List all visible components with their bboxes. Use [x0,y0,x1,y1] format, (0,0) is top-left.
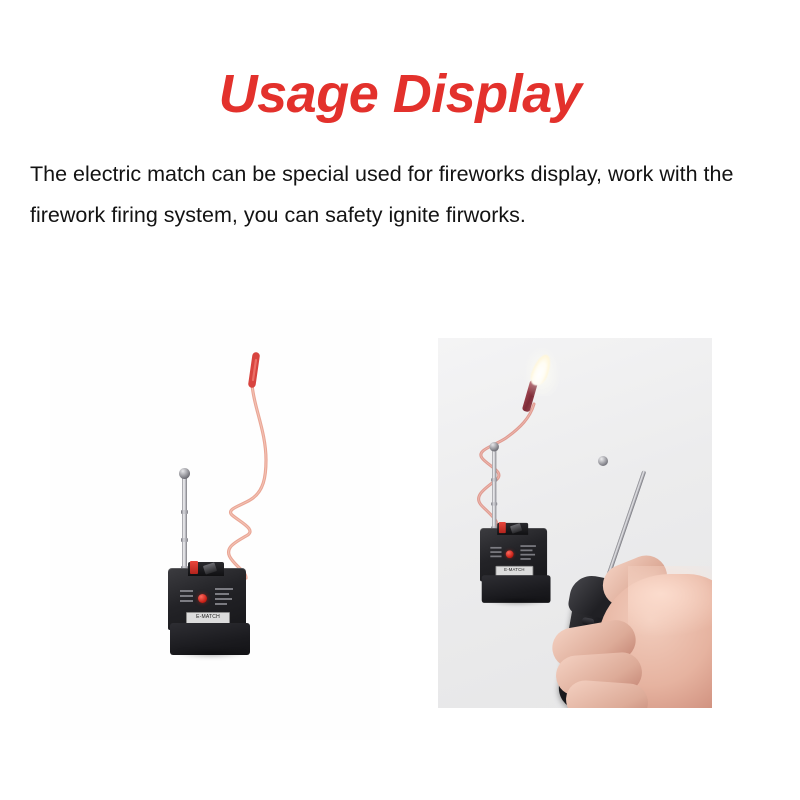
receiver-unit-left: E-MATCH [168,568,254,660]
product-photo-left: E-MATCH [50,310,380,740]
receiver-marking-left-right [490,547,501,562]
receiver-marking-right-left [215,588,235,610]
product-photo-right: E-MATCH [438,338,712,708]
remote-antenna-tip-icon [598,456,608,466]
receiver-face-right: E-MATCH [480,528,547,581]
electric-match-wire-left [50,310,380,740]
receiver-led-right [506,550,514,558]
receiver-led-left [198,594,207,603]
receiver-marking-right-right [520,545,537,564]
receiver-face-left: E-MATCH [168,568,246,630]
product-photo-area: E-MATCH [0,290,800,760]
hand-thumb-highlight [628,566,712,636]
receiver-unit-right: E-MATCH [480,528,554,607]
match-flame-right [531,354,551,388]
page-title: Usage Display [0,0,800,124]
receiver-terminal-red-left [190,561,198,574]
receiver-shadow-right [485,599,549,607]
intro-paragraph: The electric match can be special used f… [0,124,800,236]
receiver-terminal-red-right [499,522,506,533]
hand-holding-remote [546,536,712,708]
header-block: Usage Display The electric match can be … [0,0,800,236]
receiver-shadow-left [174,650,248,659]
receiver-marking-left-left [180,590,193,608]
